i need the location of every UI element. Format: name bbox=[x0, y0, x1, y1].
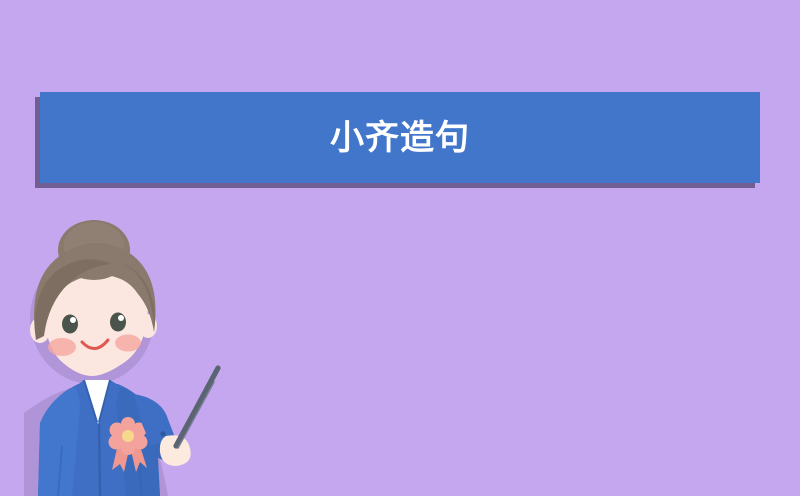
jacket-center-seam bbox=[99, 424, 100, 496]
teacher-illustration-svg bbox=[0, 208, 260, 496]
title-banner: 小齐造句 bbox=[40, 92, 760, 183]
blush-right bbox=[115, 335, 141, 352]
blush-left bbox=[48, 338, 76, 356]
hand bbox=[160, 435, 191, 466]
eye-left bbox=[62, 315, 78, 334]
teacher-illustration bbox=[0, 208, 260, 496]
eye-highlight-right bbox=[118, 315, 124, 321]
pointer-stick bbox=[176, 368, 218, 446]
pointer-stick-highlight bbox=[178, 382, 214, 448]
eye-highlight-left bbox=[70, 317, 76, 323]
page-title: 小齐造句 bbox=[330, 121, 470, 155]
teacher-body bbox=[38, 368, 218, 496]
cuff-button-upper bbox=[160, 431, 165, 436]
eye-right bbox=[110, 313, 126, 332]
page-root: 小齐造句 bbox=[0, 0, 800, 496]
